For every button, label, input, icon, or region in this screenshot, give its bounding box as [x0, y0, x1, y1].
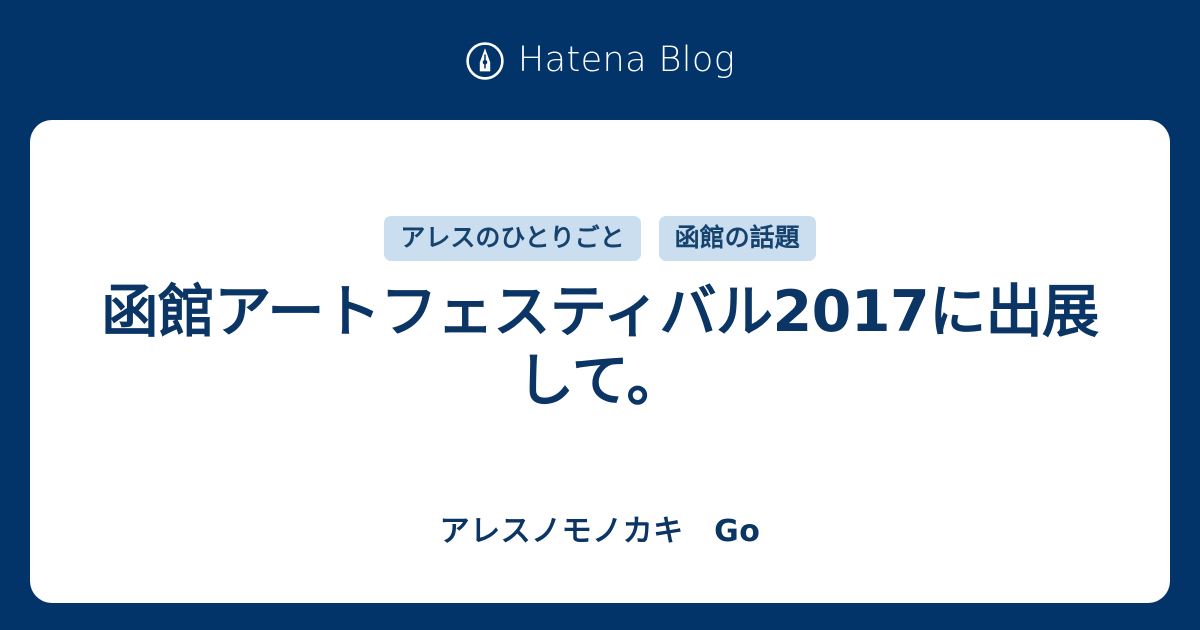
fountain-pen-nib-circle-icon — [465, 41, 505, 81]
brand-header: Hatena Blog — [0, 0, 1200, 120]
blog-name-footer: アレスノモノカキ Go — [30, 517, 1170, 547]
brand-wordmark: Hatena Blog — [518, 43, 735, 78]
entry-title: 函館アートフェスティバル2017に出展して。 — [30, 278, 1170, 416]
tag-pill[interactable]: 函館の話題 — [659, 216, 816, 261]
tag-list: アレスのひとりごと 函館の話題 — [344, 216, 855, 261]
tag-pill[interactable]: アレスのひとりごと — [384, 216, 640, 261]
hatena-blog-share-card: Hatena Blog アレスのひとりごと 函館の話題 函館アートフェスティバル… — [0, 0, 1200, 630]
content-card: アレスのひとりごと 函館の話題 函館アートフェスティバル2017に出展して。 ア… — [30, 120, 1170, 603]
blog-name[interactable]: アレスノモノカキ Go — [440, 514, 761, 549]
